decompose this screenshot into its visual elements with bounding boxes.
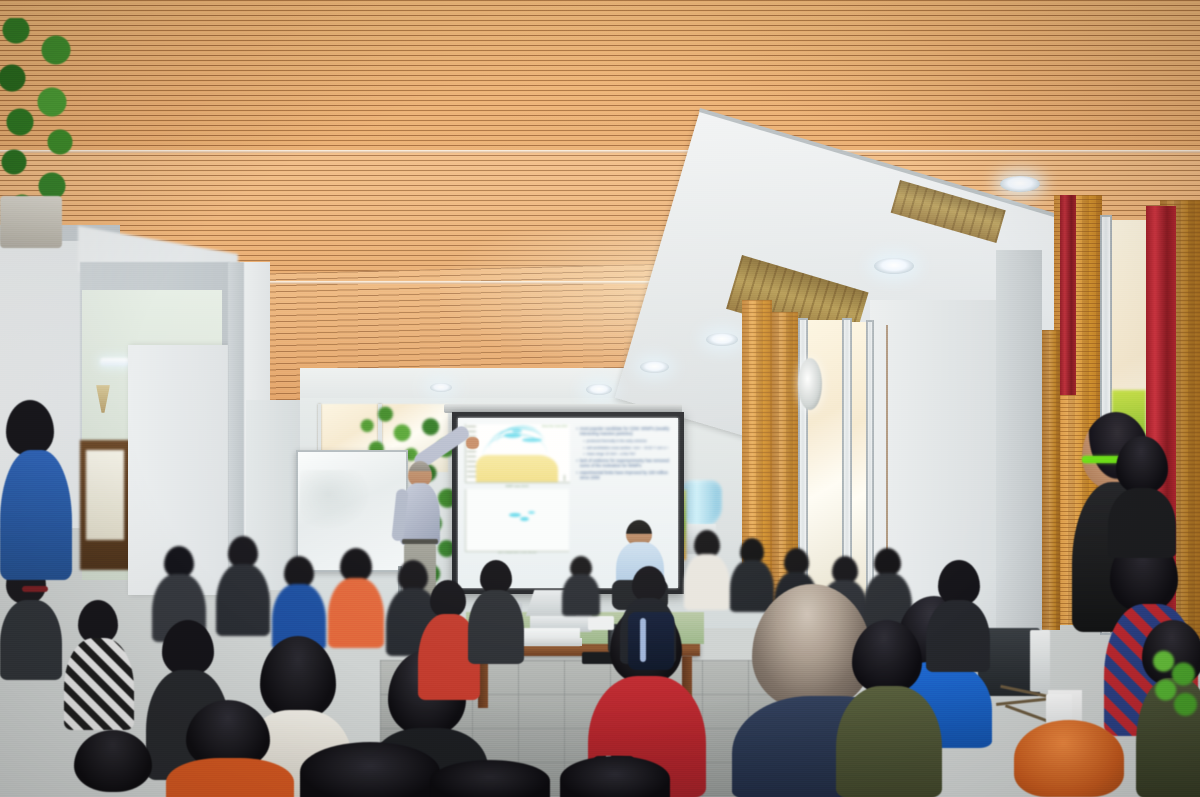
audience-member (926, 560, 992, 670)
orange-jacket-torso (166, 758, 294, 797)
red-frame-edge (1060, 195, 1076, 395)
downlight-1 (1000, 176, 1040, 192)
head (480, 560, 512, 594)
head (340, 548, 372, 582)
presenter-belt (402, 539, 438, 544)
secondary-plot (465, 489, 569, 552)
torso (0, 450, 72, 580)
bullet-marker-icon: ▪ (576, 427, 577, 437)
backpack-stripe (640, 618, 646, 662)
bullet-marker-icon: ▪ (583, 452, 584, 456)
orange-knit-hat (1014, 720, 1124, 797)
downlight-2 (874, 258, 914, 274)
head (6, 400, 54, 456)
head (1116, 436, 1168, 494)
slide-bullet-text: mass range 10 GeV – a few TeV (587, 452, 636, 456)
audience-member (682, 530, 734, 610)
hanging-ivy-plant (0, 18, 94, 218)
torso (684, 554, 730, 610)
bullet-marker-icon: ▪ (583, 446, 584, 450)
slide-bullet-text: lack of evidence for supersymmetry has r… (580, 459, 674, 469)
checked-shirt-torso (64, 638, 134, 730)
noticeboard (86, 450, 124, 540)
downlight-4 (706, 333, 738, 346)
head (162, 620, 214, 676)
foreground-head (300, 742, 440, 797)
whiteboard-reflection (300, 470, 370, 530)
head (632, 566, 666, 602)
wall-clock (798, 358, 822, 410)
torso (926, 600, 990, 672)
backpack (628, 612, 674, 670)
slide-bullet-text: most popular candidate for CDM: WIMPs (w… (580, 427, 674, 437)
plot2-point (520, 517, 529, 521)
cross-section-plot: Direct Det. limits 2013 (465, 424, 570, 483)
slide-bullet: ▪ produced thermally in the early univer… (583, 439, 674, 443)
plot2-point (528, 511, 535, 514)
bullet-marker-icon: ▪ (576, 471, 577, 481)
audience-member (0, 400, 74, 580)
eyeglasses-icon (22, 586, 48, 592)
blind-cord[interactable] (886, 325, 888, 555)
plot-contour-blob (504, 433, 521, 438)
audience-member (468, 560, 526, 664)
slide-bullet-text: self-annihilation cross section: <σv> ~ … (587, 446, 669, 450)
water-cooler-jug (680, 480, 722, 528)
slide-bullet: ▪ experimental limits have improved by 1… (576, 471, 674, 481)
slide-bullet: ▪ lack of evidence for supersymmetry has… (576, 459, 674, 469)
fluorescent-light (100, 358, 130, 366)
torso (468, 590, 524, 664)
audience-member (60, 730, 180, 797)
plot2-point (509, 513, 521, 517)
bullet-marker-icon: ▪ (576, 459, 577, 469)
head (430, 580, 466, 618)
foreground-head (430, 760, 550, 797)
slide-bullet: ▪ mass range 10 GeV – a few TeV (583, 452, 674, 456)
audience-member (64, 600, 136, 730)
torso (0, 600, 62, 680)
audience-member (1108, 436, 1178, 556)
downlight-7 (430, 383, 452, 392)
bullet-marker-icon: ▪ (583, 439, 584, 443)
torso (1108, 488, 1176, 558)
plot-corner-label: Direct Det. limits 2013 (542, 426, 567, 429)
slide-bullet-text: experimental limits have improved by 100… (580, 471, 674, 481)
downlight-5 (640, 361, 669, 373)
air-conditioner-panel (1030, 630, 1050, 692)
downlight-6 (586, 384, 612, 395)
slide-bullet-text: produced thermally in the early universe (587, 439, 647, 443)
bamboo-blind-4[interactable] (1042, 330, 1060, 630)
audience-member (328, 548, 386, 648)
slide-bullet: ▪ most popular candidate for CDM: WIMPs … (576, 427, 674, 437)
cable (996, 697, 1052, 706)
head (74, 730, 152, 792)
audience-member (166, 700, 296, 797)
seminar-room-photograph: Direct Det. limits 2013 WIMP mass (GeV) … (0, 0, 1200, 797)
foreground-head (560, 756, 670, 797)
slide-bullet: ▪ self-annihilation cross section: <σv> … (583, 446, 674, 450)
head (852, 620, 922, 694)
right-wall-return (996, 250, 1042, 650)
ceiling-seam (0, 150, 1200, 153)
presenter-hand (466, 437, 479, 449)
head (874, 548, 901, 576)
head (784, 548, 809, 575)
plot2-caption: Spin-independent cross section (465, 552, 569, 555)
plot-contour-blob (512, 429, 522, 433)
cable (1005, 704, 1049, 723)
plant-right-edge (1148, 650, 1200, 730)
olive-jacket-torso (836, 686, 942, 797)
ivy-planter (0, 196, 62, 248)
